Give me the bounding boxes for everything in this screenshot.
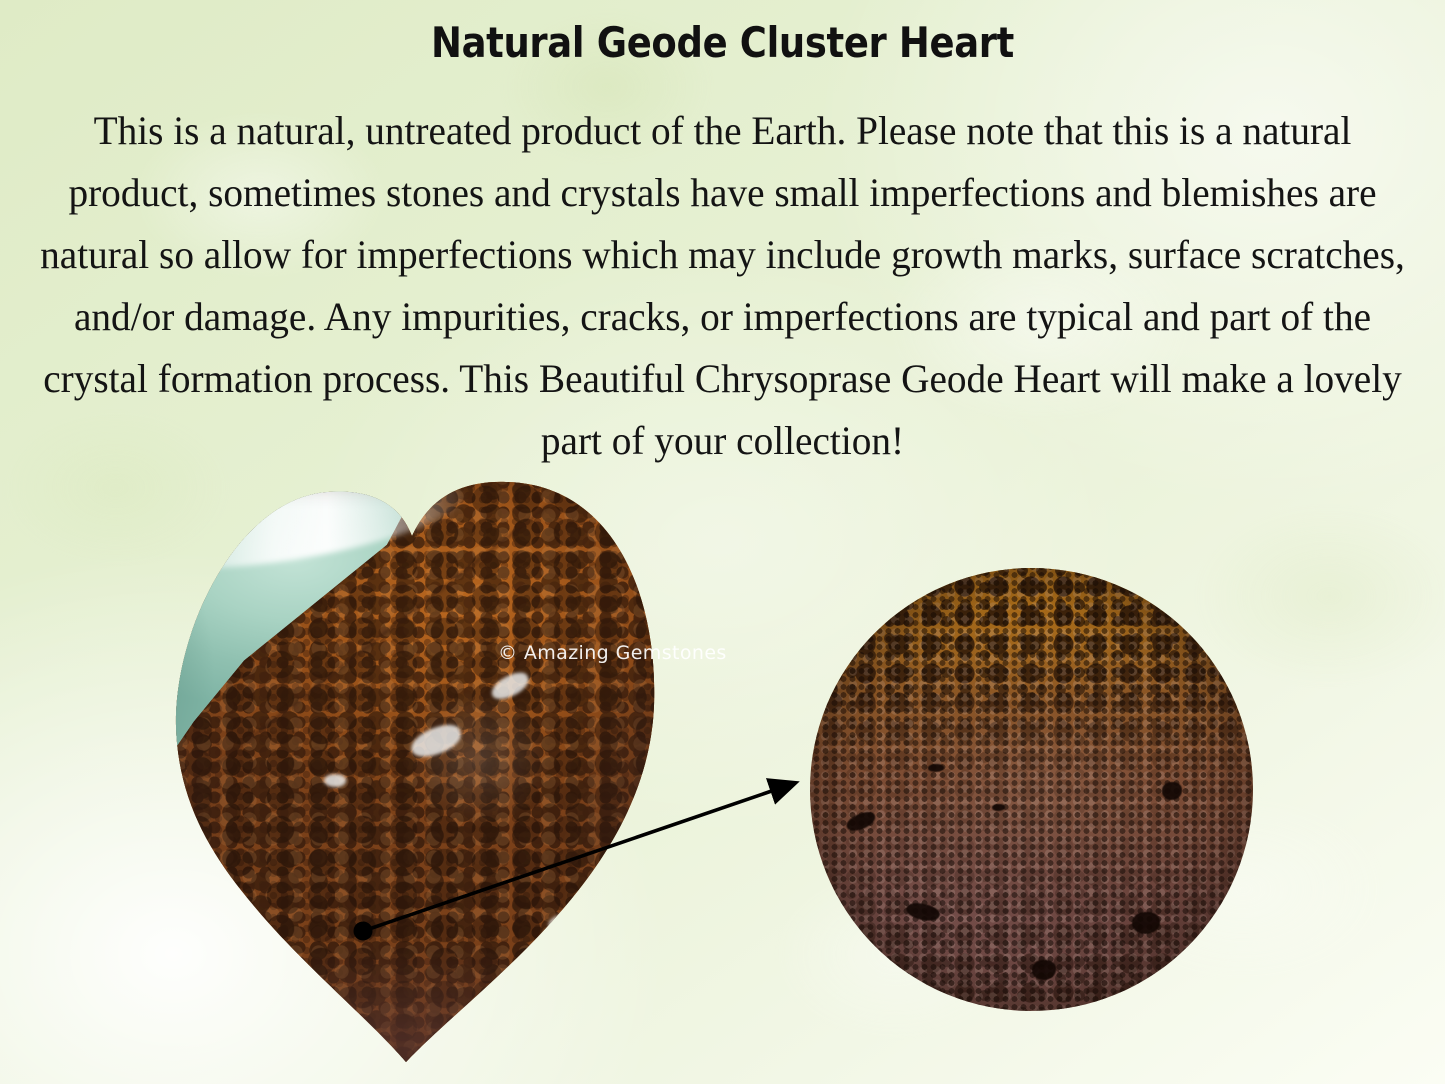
product-description: This is a natural, untreated product of …	[33, 100, 1411, 472]
page-title: Natural Geode Cluster Heart	[87, 18, 1359, 67]
heart-stone-shape	[118, 470, 698, 1070]
product-info-image: Natural Geode Cluster Heart This is a na…	[0, 0, 1445, 1084]
magnified-detail-circle	[810, 568, 1253, 1011]
detail-vignette	[810, 568, 1253, 1011]
stone-shading	[118, 470, 698, 1070]
product-photo	[118, 470, 698, 1070]
